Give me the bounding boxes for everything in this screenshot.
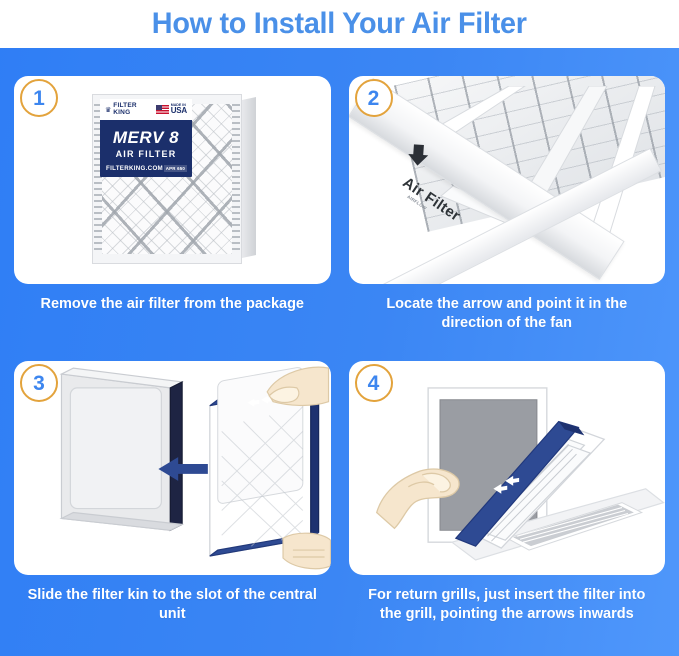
brand-website: FILTERKING.COM: [106, 165, 163, 172]
label-footer-row: FILTERKING.COM APR 650: [106, 165, 187, 172]
step-4-card: 4: [349, 361, 666, 575]
step-1-illustration: ♛ FILTER KING MADE IN: [14, 76, 331, 284]
step-4-illustration: [349, 361, 666, 575]
step-2-card: Air Filter AIRFLOW 2: [349, 76, 666, 284]
step-2-illustration: Air Filter AIRFLOW: [349, 76, 666, 284]
apr-badge: APR 650: [164, 165, 187, 172]
step-1-card: ♛ FILTER KING MADE IN: [14, 76, 331, 284]
merv-rating: MERV 8: [100, 128, 192, 148]
steps-grid: ♛ FILTER KING MADE IN: [0, 48, 679, 656]
hand-bottom: [283, 533, 330, 569]
air-filter-product-image: ♛ FILTER KING MADE IN: [92, 94, 256, 266]
brand-line-2: KING: [113, 109, 130, 116]
step-4: 4 For return grills, just insert the fil…: [349, 361, 666, 650]
step-1: ♛ FILTER KING MADE IN: [14, 76, 331, 361]
step-number-badge-2: 2: [355, 79, 393, 117]
country-label: USA: [171, 107, 187, 115]
filter-pleat-ticks-right: [232, 104, 240, 254]
made-in-usa-mark: MADE IN USA: [156, 104, 187, 116]
brand-name: FILTER KING: [113, 103, 136, 117]
step-4-caption: For return grills, just insert the filte…: [349, 586, 666, 624]
filter-front-face: ♛ FILTER KING MADE IN: [92, 94, 242, 264]
step-2: Air Filter AIRFLOW 2 Locate the arrow an…: [349, 76, 666, 361]
central-unit-slot: [61, 368, 182, 530]
step-number-badge-3: 3: [20, 364, 58, 402]
label-header-row: ♛ FILTER KING MADE IN: [100, 99, 192, 120]
step-2-caption: Locate the arrow and point it in the dir…: [349, 295, 666, 333]
step-1-caption: Remove the air filter from the package: [14, 295, 331, 314]
step-number-badge-4: 4: [355, 364, 393, 402]
step-3-caption: Slide the filter kin to the slot of the …: [14, 586, 331, 624]
filter-king-logo: ♛ FILTER KING: [105, 103, 137, 117]
step-3-card: 3: [14, 361, 331, 575]
usa-flag-icon: [156, 105, 169, 114]
slide-filter-diagram: [14, 361, 331, 575]
made-in-usa-text: MADE IN USA: [171, 104, 187, 116]
step-3: 3 Slide the filter kin to the slot of th…: [14, 361, 331, 650]
header-bar: How to Install Your Air Filter: [0, 0, 679, 48]
filter-product-label: ♛ FILTER KING MADE IN: [100, 99, 192, 177]
product-type-label: AIR FILTER: [100, 149, 192, 159]
filter-side-face: [242, 97, 256, 258]
crown-icon: ♛: [105, 106, 111, 114]
step-3-illustration: [14, 361, 331, 575]
page-title: How to Install Your Air Filter: [152, 7, 527, 41]
return-grill-diagram: [349, 361, 666, 575]
step-number-badge-1: 1: [20, 79, 58, 117]
